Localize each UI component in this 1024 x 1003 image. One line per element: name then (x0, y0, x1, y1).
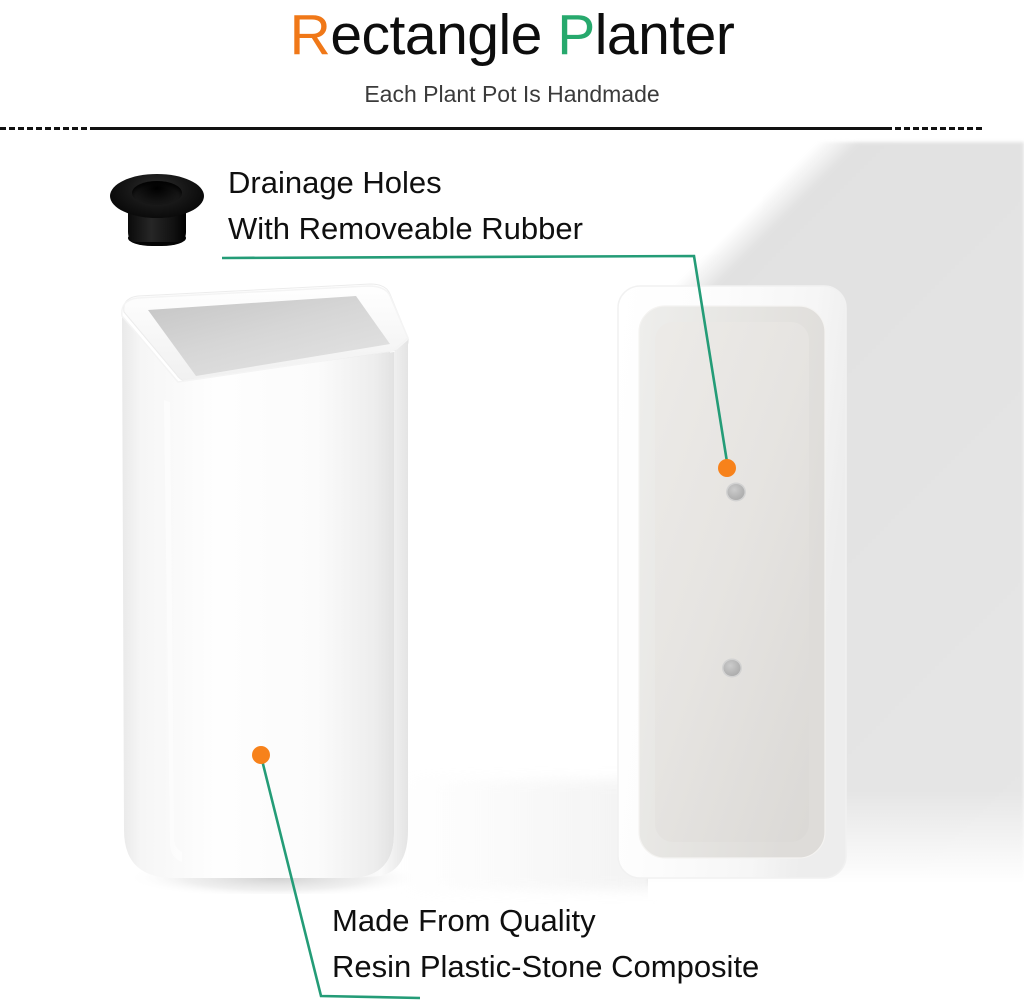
planter-left-face-front-correct (122, 318, 394, 878)
callout-material-line-2: Resin Plastic-Stone Composite (332, 944, 759, 990)
planter-topdown-view (612, 280, 852, 884)
callout-drainage-label: Drainage Holes With Removeable Rubber (228, 160, 583, 252)
rubber-drainage-plug-icon (110, 168, 204, 244)
page-subtitle: Each Plant Pot Is Handmade (0, 80, 1024, 108)
callout-material-line-1: Made From Quality (332, 898, 759, 944)
callout-material-label: Made From Quality Resin Plastic-Stone Co… (332, 898, 759, 990)
planter-right-floor (655, 322, 809, 842)
drainage-hole-top (726, 483, 746, 502)
page-title: Rectangle Planter (0, 2, 1024, 68)
title-part-lanter: lanter (595, 3, 735, 67)
divider-dash-right (886, 127, 982, 130)
divider-dash-left (0, 127, 96, 130)
callout-drainage-line-1: Drainage Holes (228, 160, 583, 206)
title-part-p: P (557, 3, 595, 67)
divider-solid (96, 127, 886, 130)
infographic-canvas: Rectangle Planter Each Plant Pot Is Hand… (0, 0, 1024, 1003)
header-divider (0, 126, 1024, 130)
plug-bore (132, 181, 182, 205)
title-part-ectangle: ectangle (330, 3, 557, 67)
drainage-hole-bottom (722, 659, 742, 678)
callout-drainage-line-2: With Removeable Rubber (228, 206, 583, 252)
planter-perspective-view (108, 282, 418, 894)
title-part-r: R (290, 3, 331, 67)
header: Rectangle Planter Each Plant Pot Is Hand… (0, 0, 1024, 130)
